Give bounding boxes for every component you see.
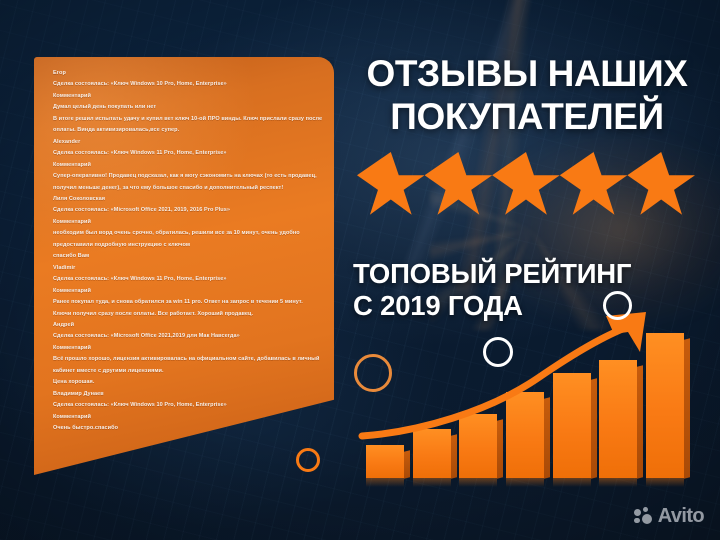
review-line: Vladimir [53,263,322,274]
review-line: Андрей [53,320,322,331]
decorative-circle [603,291,632,320]
review-line: Думал целый день покупать или нет [53,102,322,113]
review-line: Комментарий [53,343,322,354]
decorative-circle [296,448,320,472]
page-title: ОТЗЫВЫ НАШИХ ПОКУПАТЕЛЕЙ [357,52,697,138]
review-line: необходим был ворд очень срочно, обратил… [53,228,322,239]
headline-line-2: ПОКУПАТЕЛЕЙ [357,95,697,138]
review-line: Ранее покупал туда, и снова обратился за… [53,297,322,308]
review-line: Сделка состоялась: «Ключ Windows 11 Pro,… [53,148,322,159]
review-line: Сделка состоялась: «Microsoft Office 202… [53,331,322,342]
review-line: Ключи получил сразу после оплаты. Все ра… [53,309,322,320]
star-icon [627,152,695,218]
review-line: предоставили подробную инструкцию с ключ… [53,240,322,251]
avito-logo: Avito [634,507,704,526]
review-line: Лиля Соколовская [53,194,322,205]
growth-arrow-icon [358,300,698,492]
avito-mark-icon [634,507,653,526]
avito-wordmark: Avito [658,507,704,526]
review-line: Супер-оперативно! Продавец подсказал, ка… [53,171,322,182]
review-line: Сделка состоялась: «Ключ Windows 10 Pro,… [53,400,322,411]
review-line: В итоге решил испытать удачу и купил вет… [53,114,322,125]
review-line: Цена хорошая. [53,377,322,388]
review-line: Всё прошло хорошо, лицензия активировала… [53,354,322,365]
review-line: Комментарий [53,286,322,297]
review-line: оплаты. Винда активизировалась,все супер… [53,125,322,136]
star-icon [560,152,628,218]
review-line: Alexander [53,137,322,148]
review-line: Сделка состоялась: «Ключ Windows 10 Pro,… [53,79,322,90]
review-line: спасибо Вам [53,251,322,262]
rating-line-1: ТОПОВЫЙ РЕЙТИНГ [353,258,631,289]
review-line: кабинет вместе с другими лицензиями. [53,366,322,377]
review-line: получил меньше денег), за что ему большо… [53,183,322,194]
growth-bar-chart [358,300,698,492]
review-line: Егор [53,68,322,79]
star-icon [425,152,493,218]
review-line: Комментарий [53,160,322,171]
star-icon [492,152,560,218]
headline-line-1: ОТЗЫВЫ НАШИХ [366,53,687,94]
review-line: Комментарий [53,91,322,102]
review-line: Сделка состоялась: «Ключ Windows 11 Pro,… [53,274,322,285]
star-rating [357,152,695,218]
decorative-circle [354,354,392,392]
review-line: Владимир Дунаев [53,389,322,400]
star-icon [357,152,425,218]
reviews-text-block: ЕгорСделка состоялась: «Ключ Windows 10 … [53,68,322,435]
decorative-circle [483,337,513,367]
review-line: Сделка состоялась: «Microsoft Office 202… [53,205,322,216]
review-line: Комментарий [53,217,322,228]
